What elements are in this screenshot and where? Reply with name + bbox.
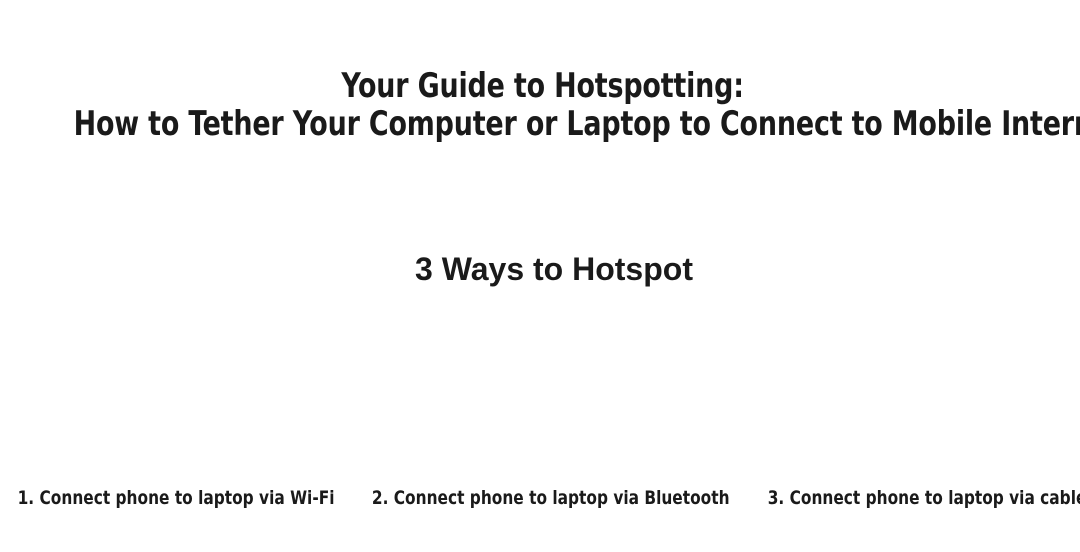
illustration-slot-wifi [0, 278, 360, 478]
illustration-slot-cable [720, 278, 1080, 478]
step-caption-cable: 3. Connect phone to laptop via cable [767, 486, 1080, 510]
illustration-slot-bluetooth [360, 278, 720, 478]
page-title-line-2: How to Tether Your Computer or Laptop to… [65, 105, 1015, 143]
page-title: Your Guide to Hotspotting: How to Tether… [65, 67, 1015, 143]
page-title-line-1: Your Guide to Hotspotting: [65, 67, 1015, 105]
infographic-page: Your Guide to Hotspotting: How to Tether… [0, 0, 1080, 552]
step-caption-bluetooth: 2. Connect phone to laptop via Bluetooth [372, 486, 730, 510]
illustration-band [0, 278, 1080, 478]
step-caption-row: 1. Connect phone to laptop via Wi-Fi 2. … [0, 486, 1080, 510]
step-caption-wifi: 1. Connect phone to laptop via Wi-Fi [18, 486, 335, 510]
